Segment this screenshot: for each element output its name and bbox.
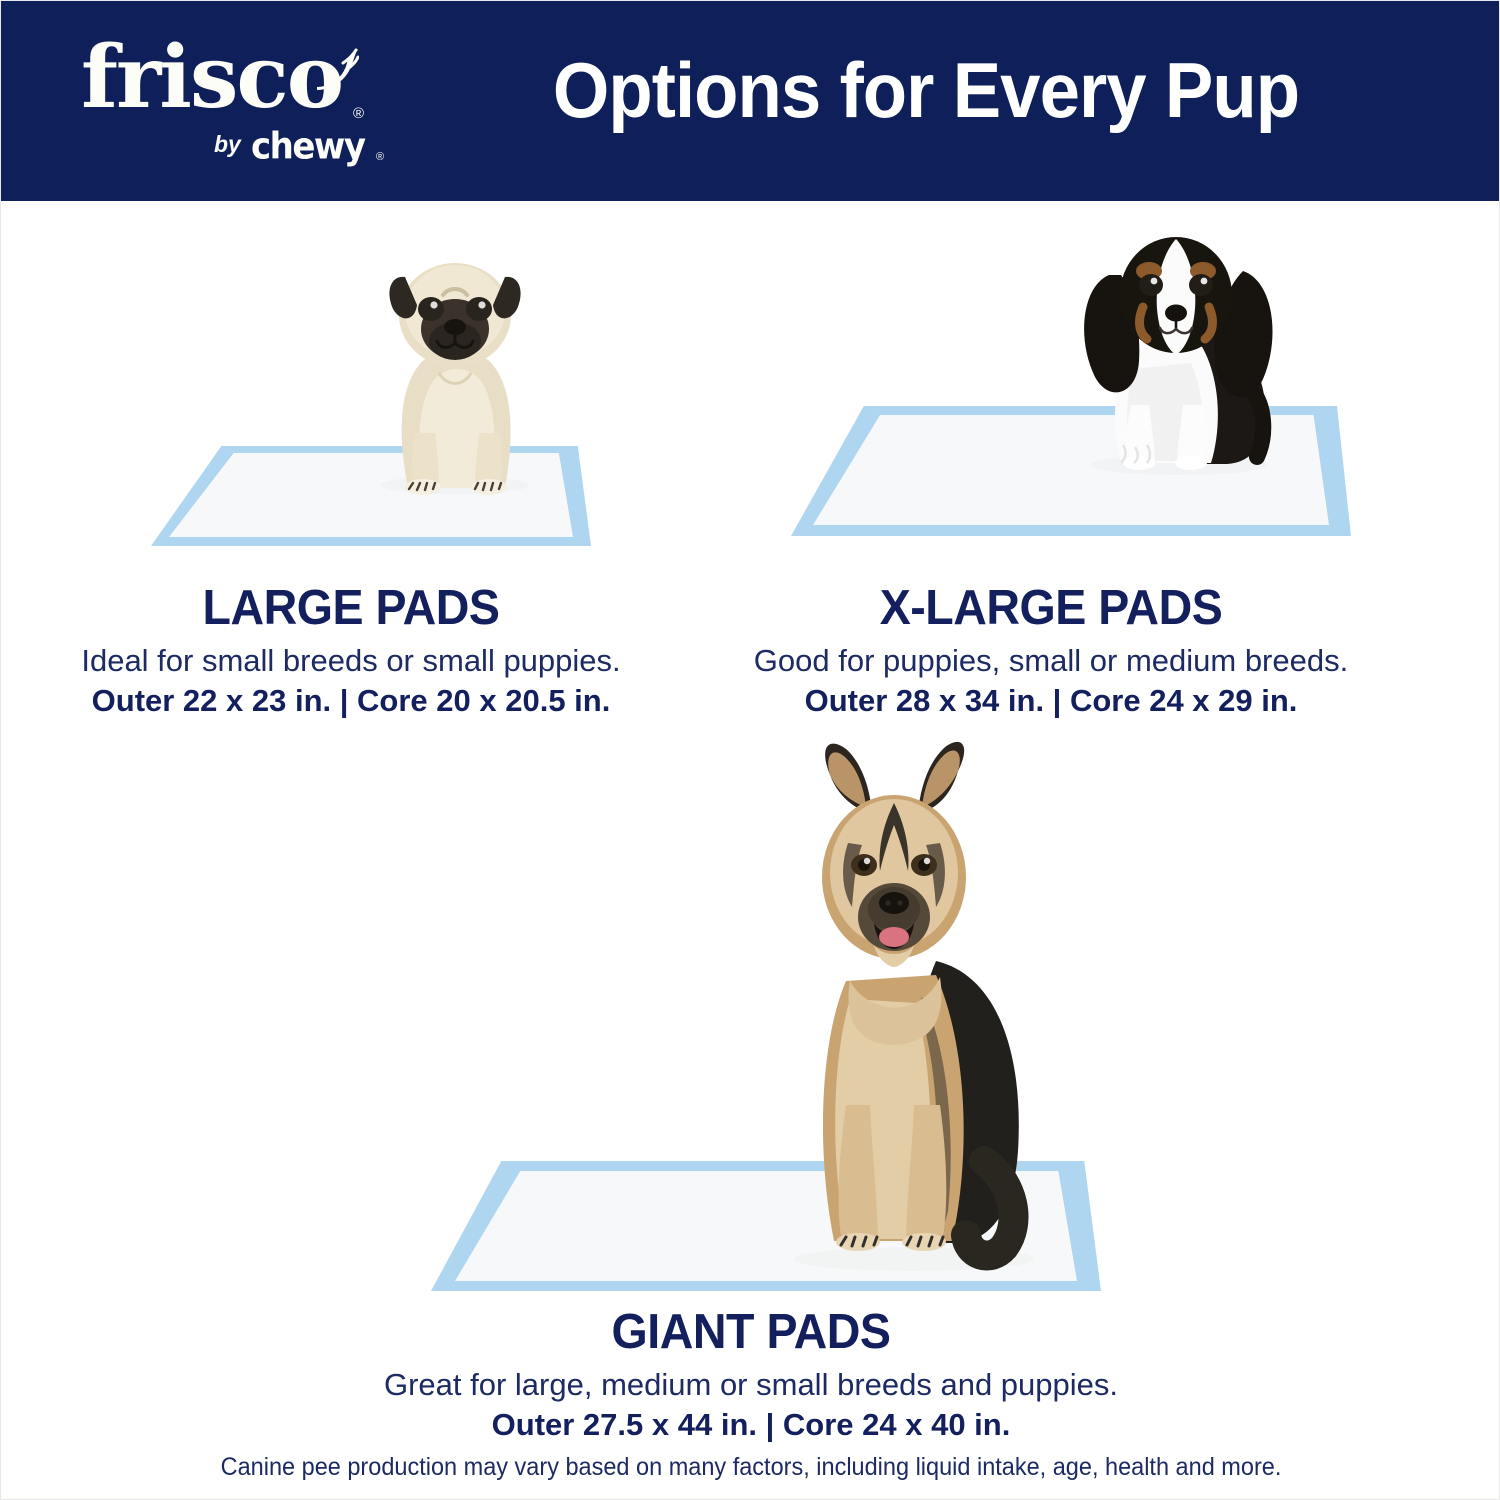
product-title-giant-pads: GIANT PADS [181, 1305, 1321, 1359]
dog-illustration-cavalier-spaniel [1051, 209, 1301, 479]
product-description-large-pads: Ideal for small breeds or small puppies. [21, 641, 681, 681]
product-description-x-large-pads: Good for puppies, small or medium breeds… [691, 641, 1411, 681]
dog-illustration-pug [363, 253, 548, 498]
product-title-x-large-pads: X-LARGE PADS [709, 581, 1393, 635]
header-banner: frisco ® by chewy ® Options for Every Pu… [1, 1, 1500, 201]
caption-x-large-pads: X-LARGE PADS Good for puppies, small or … [691, 581, 1411, 721]
chewy-registered-trademark-icon: ® [376, 151, 384, 163]
product-dimensions-giant-pads: Outer 27.5 x 44 in. | Core 24 x 40 in. [151, 1405, 1351, 1445]
logo-by-label: by [214, 131, 241, 158]
disclaimer-text: Canine pee production may vary based on … [46, 1453, 1456, 1482]
dog-illustration-german-shepherd [746, 731, 1076, 1276]
chewy-wordmark: chewy [251, 125, 365, 168]
frisco-tail-flourish-icon [313, 47, 359, 91]
infographic-page: frisco ® by chewy ® Options for Every Pu… [0, 0, 1500, 1500]
product-dimensions-large-pads: Outer 22 x 23 in. | Core 20 x 20.5 in. [21, 681, 681, 721]
product-dimensions-x-large-pads: Outer 28 x 34 in. | Core 24 x 29 in. [691, 681, 1411, 721]
frisco-logo: frisco ® by chewy ® [81, 39, 381, 164]
page-title: Options for Every Pup [466, 45, 1387, 136]
brand-wordmark: frisco [81, 35, 342, 121]
product-title-large-pads: LARGE PADS [38, 581, 665, 635]
product-description-giant-pads: Great for large, medium or small breeds … [151, 1365, 1351, 1405]
caption-large-pads: LARGE PADS Ideal for small breeds or sma… [21, 581, 681, 721]
product-giant-pads [1, 721, 1500, 1331]
registered-trademark-icon: ® [353, 105, 364, 122]
caption-giant-pads: GIANT PADS Great for large, medium or sm… [151, 1305, 1351, 1445]
